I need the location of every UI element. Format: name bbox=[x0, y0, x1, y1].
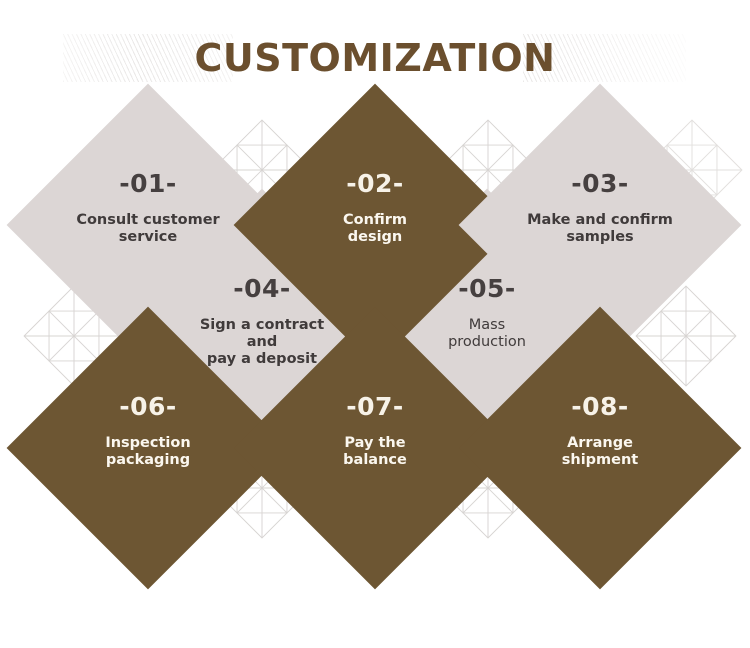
infographic-canvas: CUSTOMIZATION -04- Sign a contract and p… bbox=[0, 0, 750, 620]
step-label: Inspection packaging bbox=[63, 435, 233, 469]
step-label: Pay the balance bbox=[290, 435, 460, 469]
step-number: -03- bbox=[571, 171, 629, 196]
step-number: -06- bbox=[119, 394, 177, 419]
step-label: Consult customer service bbox=[63, 212, 233, 246]
step-number: -07- bbox=[346, 394, 404, 419]
step-label: Arrange shipment bbox=[515, 435, 685, 469]
page-title: CUSTOMIZATION bbox=[0, 32, 750, 84]
step-number: -08- bbox=[571, 394, 629, 419]
step-card-08[interactable]: -08- Arrange shipment bbox=[459, 307, 742, 590]
step-label: Make and confirm samples bbox=[515, 212, 685, 246]
step-number: -01- bbox=[119, 171, 177, 196]
step-label: Confirm design bbox=[290, 212, 460, 246]
step-number: -02- bbox=[346, 171, 404, 196]
